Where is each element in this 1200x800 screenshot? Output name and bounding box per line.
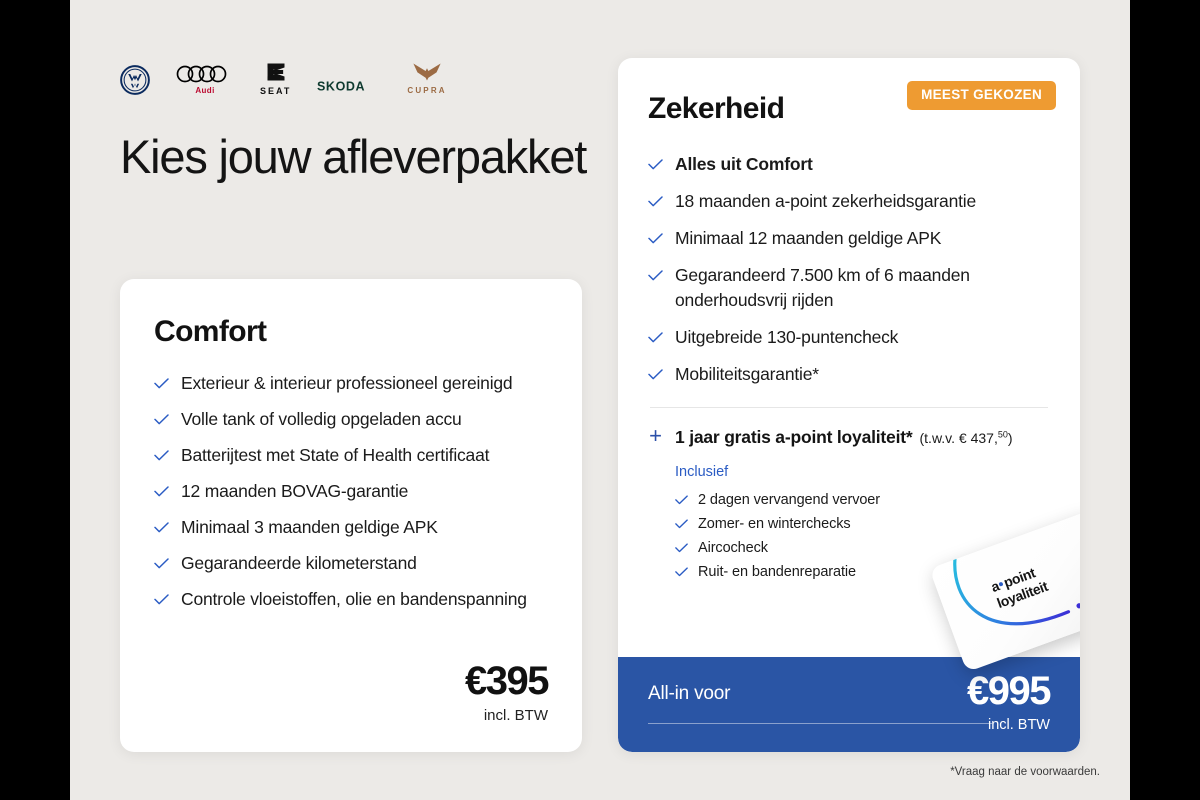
bonus-title-wrap: 1 jaar gratis a-point loyaliteit*(t.w.v.… <box>675 427 1013 448</box>
bonus-subtitle: Inclusief <box>675 464 1050 480</box>
list-item: Batterijtest met State of Health certifi… <box>154 443 548 467</box>
list-item: 18 maanden a-point zekerheidsgarantie <box>648 189 1050 214</box>
list-item-label: Aircocheck <box>698 536 768 560</box>
list-item: 12 maanden BOVAG-garantie <box>154 479 548 503</box>
list-item: Volle tank of volledig opgeladen accu <box>154 407 548 431</box>
zekerheid-price-bar: All-in voor €995 incl. BTW <box>618 657 1080 752</box>
list-item-label: Uitgebreide 130-puntencheck <box>675 325 898 350</box>
bonus-value: (t.w.v. € 437,50) <box>920 430 1013 446</box>
bonus-row: + 1 jaar gratis a-point loyaliteit*(t.w.… <box>648 426 1050 448</box>
package-card-comfort[interactable]: Comfort Exterieur & interieur profession… <box>120 279 582 752</box>
zekerheid-price-note: incl. BTW <box>967 717 1050 733</box>
cupra-logo-caption: CUPRA <box>407 86 446 96</box>
list-item-label: 2 dagen vervangend vervoer <box>698 488 880 512</box>
bonus-value-prefix: (t.w.v. € 437, <box>920 430 998 446</box>
bonus-value-cents: 50 <box>998 429 1008 439</box>
svg-text:SKODA: SKODA <box>317 80 365 94</box>
list-item-label: Volle tank of volledig opgeladen accu <box>181 407 462 431</box>
zekerheid-price: €995 <box>967 671 1050 711</box>
list-item-label: Alles uit Comfort <box>675 152 813 177</box>
list-item-label: Controle vloeistoffen, olie en bandenspa… <box>181 587 527 611</box>
check-icon <box>154 587 169 611</box>
check-icon <box>648 189 663 213</box>
list-item-label: Zomer- en winterchecks <box>698 512 851 536</box>
list-item: 2 dagen vervangend vervoer <box>675 488 1050 512</box>
page-canvas: Audi SEAT SKODA CUPRA <box>70 0 1130 800</box>
list-item: Gegarandeerd 7.500 km of 6 maanden onder… <box>648 263 1050 313</box>
list-item-label: Gegarandeerde kilometerstand <box>181 551 417 575</box>
comfort-price-note: incl. BTW <box>465 707 548 724</box>
audi-logo-caption: Audi <box>195 86 214 96</box>
list-item-label: Minimaal 12 maanden geldige APK <box>675 226 941 251</box>
list-item: Zomer- en winterchecks <box>675 512 1050 536</box>
comfort-title: Comfort <box>154 315 548 349</box>
list-item-label: 12 maanden BOVAG-garantie <box>181 479 408 503</box>
check-icon <box>648 152 663 176</box>
check-icon <box>154 515 169 539</box>
status-badge: MEEST GEKOZEN <box>907 81 1056 110</box>
check-icon <box>154 443 169 467</box>
list-item: Mobiliteitsgarantie* <box>648 362 1050 387</box>
list-item-label: Gegarandeerd 7.500 km of 6 maanden onder… <box>675 263 1050 313</box>
brand-logo-bar: Audi SEAT SKODA CUPRA <box>120 52 447 96</box>
page-title: Kies jouw afleverpakket <box>120 128 600 186</box>
zekerheid-price-label: All-in voor <box>648 683 730 705</box>
list-item-label: Batterijtest met State of Health certifi… <box>181 443 489 467</box>
list-item-label: Minimaal 3 maanden geldige APK <box>181 515 438 539</box>
check-icon <box>648 325 663 349</box>
price-rule <box>648 723 992 724</box>
seat-logo-caption: SEAT <box>260 86 291 96</box>
check-icon <box>648 226 663 250</box>
skoda-logo: SKODA <box>317 77 381 96</box>
audi-logo: Audi <box>176 63 234 96</box>
list-item-label: Mobiliteitsgarantie* <box>675 362 819 387</box>
check-icon <box>675 490 688 510</box>
check-icon <box>648 263 663 287</box>
list-item-label: Ruit- en bandenreparatie <box>698 560 856 584</box>
check-icon <box>675 514 688 534</box>
footnote: *Vraag naar de voorwaarden. <box>950 766 1100 778</box>
bonus-title: 1 jaar gratis a-point loyaliteit* <box>675 427 913 447</box>
list-item: Alles uit Comfort <box>648 152 1050 177</box>
list-item: Gegarandeerde kilometerstand <box>154 551 548 575</box>
list-item: Minimaal 3 maanden geldige APK <box>154 515 548 539</box>
zekerheid-price-block: €995 incl. BTW <box>967 671 1050 733</box>
check-icon <box>675 538 688 558</box>
check-icon <box>154 407 169 431</box>
check-icon <box>154 479 169 503</box>
check-icon <box>648 362 663 386</box>
volkswagen-logo <box>120 65 150 96</box>
package-card-zekerheid[interactable]: MEEST GEKOZEN Zekerheid Alles uit Comfor… <box>618 58 1080 752</box>
comfort-feature-list: Exterieur & interieur professioneel gere… <box>154 371 548 611</box>
seat-logo: SEAT <box>260 59 291 96</box>
screenshot-stage: Audi SEAT SKODA CUPRA <box>0 0 1200 800</box>
comfort-price-block: €395 incl. BTW <box>465 661 548 724</box>
bonus-value-suffix: ) <box>1008 430 1013 446</box>
comfort-price: €395 <box>465 661 548 701</box>
check-icon <box>675 562 688 582</box>
list-item-label: Exterieur & interieur professioneel gere… <box>181 371 512 395</box>
list-item: Minimaal 12 maanden geldige APK <box>648 226 1050 251</box>
list-item-label: 18 maanden a-point zekerheidsgarantie <box>675 189 976 214</box>
list-item: Exterieur & interieur professioneel gere… <box>154 371 548 395</box>
cupra-logo: CUPRA <box>407 61 446 96</box>
list-item: Uitgebreide 130-puntencheck <box>648 325 1050 350</box>
zekerheid-feature-list: Alles uit Comfort 18 maanden a-point zek… <box>648 152 1050 387</box>
plus-icon: + <box>648 426 663 446</box>
section-divider <box>650 407 1048 408</box>
check-icon <box>154 371 169 395</box>
check-icon <box>154 551 169 575</box>
list-item: Controle vloeistoffen, olie en bandenspa… <box>154 587 548 611</box>
